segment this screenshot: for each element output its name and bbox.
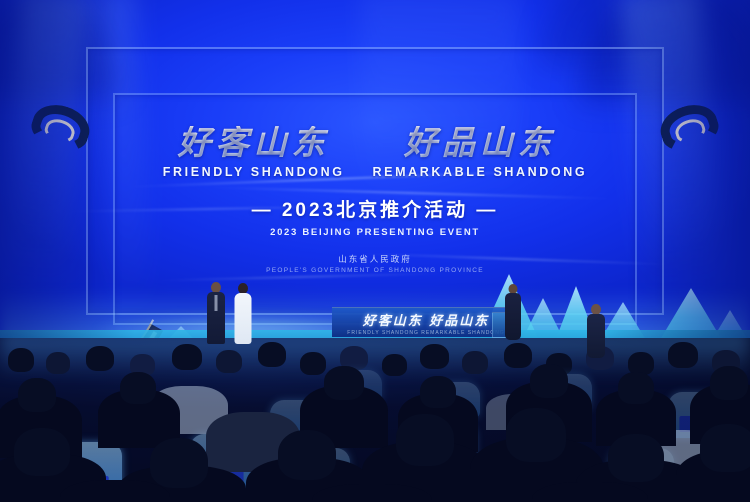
audience-head — [506, 408, 566, 462]
audience-head — [150, 438, 208, 488]
audience-head — [420, 344, 449, 369]
slogan-remarkable-shandong: 好品山东 REMARKABLE SHANDONG — [373, 126, 588, 179]
event-photo-scene: 好客山东 FRIENDLY SHANDONG 好品山东 REMARKABLE S… — [0, 0, 750, 502]
slogan-english-right: REMARKABLE SHANDONG — [373, 165, 588, 179]
audience-head — [258, 342, 286, 367]
event-title-chinese: — 2023北京推介活动 — — [0, 195, 750, 222]
organizer-english: PEOPLE'S GOVERNMENT OF SHANDONG PROVINCE — [0, 267, 750, 274]
speaker-at-lectern — [504, 284, 522, 340]
person-body — [235, 293, 252, 344]
presenter-male — [206, 282, 226, 344]
headline-slogan-row: 好客山东 FRIENDLY SHANDONG 好品山东 REMARKABLE S… — [0, 126, 750, 179]
audience-head — [18, 378, 56, 412]
audience-shoulders — [312, 484, 432, 502]
stage-right-attendee — [586, 304, 606, 358]
audience-shoulders — [532, 482, 648, 502]
audience-head — [608, 434, 664, 482]
person-body — [587, 314, 605, 358]
audience-head — [14, 428, 70, 476]
backdrop-headline-block: 好客山东 FRIENDLY SHANDONG 好品山东 REMARKABLE S… — [0, 126, 750, 274]
person-body — [207, 292, 225, 344]
audience-head — [462, 351, 488, 374]
audience-shoulders — [60, 480, 170, 502]
audience-head — [618, 372, 654, 404]
presenter-female — [233, 283, 253, 344]
slogan-chinese-right: 好品山东 — [373, 126, 588, 161]
audience-area — [0, 338, 750, 502]
audience-head — [710, 366, 748, 400]
person-body — [505, 293, 521, 340]
audience-head — [300, 352, 326, 375]
event-title-english: 2023 BEIJING PRESENTING EVENT — [0, 227, 750, 238]
audience-head — [396, 414, 454, 466]
audience-head — [216, 350, 242, 373]
podium-sign-chinese: 好客山东 好品山东 — [363, 310, 490, 329]
audience-head — [530, 364, 568, 398]
audience-head — [172, 344, 202, 370]
audience-head — [504, 343, 532, 368]
audience-head — [420, 376, 456, 408]
audience-head — [46, 352, 70, 374]
audience-head — [382, 354, 407, 376]
slogan-english-left: FRIENDLY SHANDONG — [163, 165, 345, 179]
audience-head — [668, 342, 698, 368]
organizer-chinese: 山东省人民政府 — [0, 253, 750, 265]
stage-led-backdrop: 好客山东 FRIENDLY SHANDONG 好品山东 REMARKABLE S… — [0, 0, 750, 360]
audience-head — [700, 424, 750, 472]
audience-head — [324, 366, 364, 400]
audience-head — [86, 346, 114, 371]
audience-head — [120, 372, 156, 404]
slogan-friendly-shandong: 好客山东 FRIENDLY SHANDONG — [163, 126, 345, 179]
podium-sign-english: FRIENDLY SHANDONG REMARKABLE SHANDONG — [347, 330, 504, 336]
audience-head — [278, 430, 336, 480]
audience-head — [8, 348, 34, 372]
slogan-chinese-left: 好客山东 — [163, 126, 345, 161]
